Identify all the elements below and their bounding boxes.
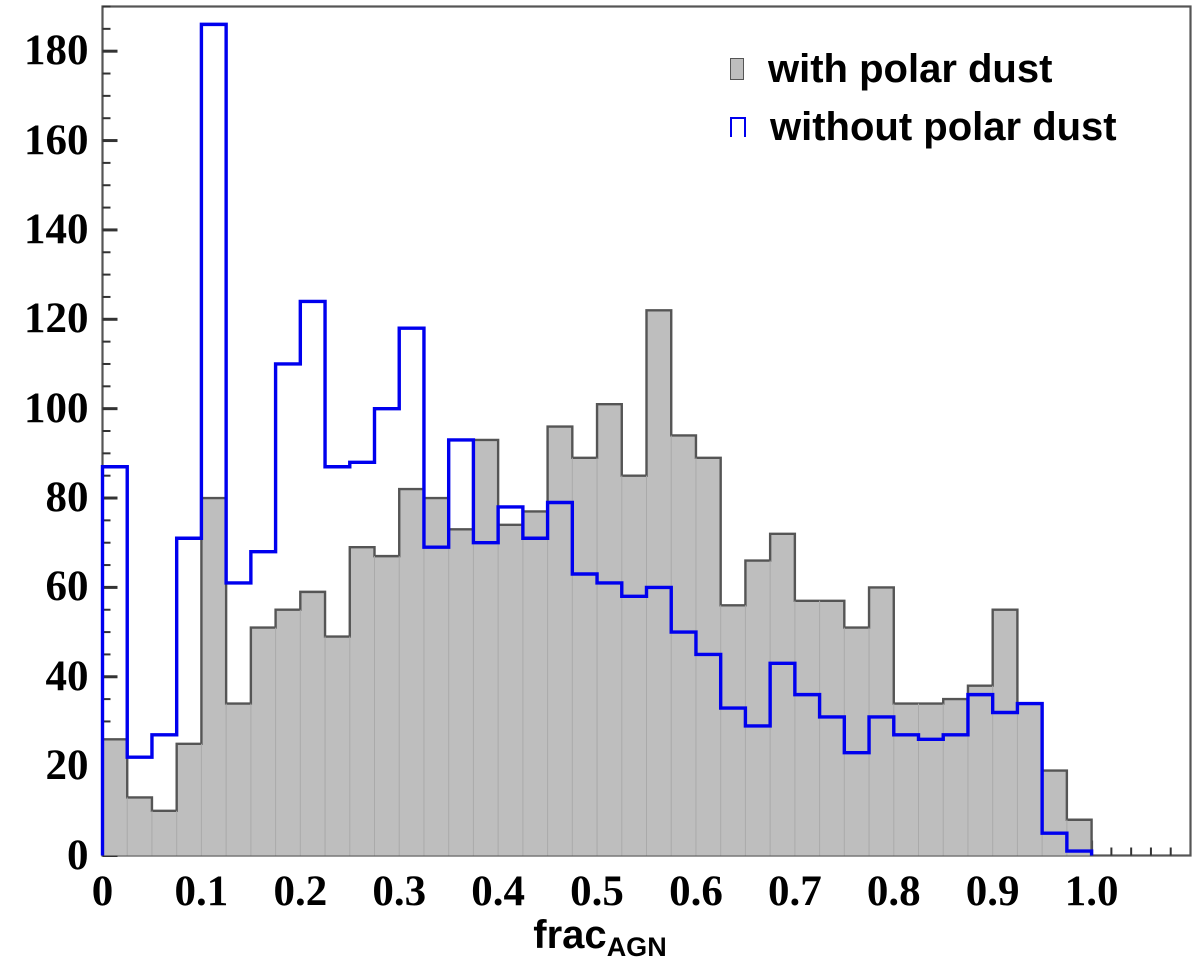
y-tick-label: 80: [46, 476, 89, 519]
legend-swatch-filled-square-icon: [730, 58, 744, 80]
legend-entry-without-polar-dust: without polar dust: [730, 98, 1180, 156]
legend-label-with-polar-dust: with polar dust: [768, 49, 1052, 89]
y-tick-label: 60: [46, 565, 89, 608]
legend-swatch-outlined-square-icon: [730, 117, 746, 137]
y-tick-label: 120: [24, 297, 89, 340]
x-axis-title: fracAGN: [0, 915, 1200, 955]
y-tick-label: 160: [24, 119, 89, 162]
histogram-figure: 020406080100120140160180 00.10.20.30.40.…: [0, 0, 1200, 974]
x-tick-label: 1.0: [1032, 870, 1152, 913]
x-axis-title-main: frac: [533, 913, 606, 957]
legend-entry-with-polar-dust: with polar dust: [730, 40, 1180, 98]
y-tick-label: 40: [46, 655, 89, 698]
legend-label-without-polar-dust: without polar dust: [770, 107, 1117, 147]
y-tick-label: 100: [24, 387, 89, 430]
legend: with polar dust without polar dust: [730, 40, 1180, 156]
x-axis-title-subscript: AGN: [607, 932, 667, 962]
y-tick-label: 20: [46, 744, 89, 787]
y-tick-label: 180: [24, 29, 89, 72]
y-tick-label: 140: [24, 208, 89, 251]
